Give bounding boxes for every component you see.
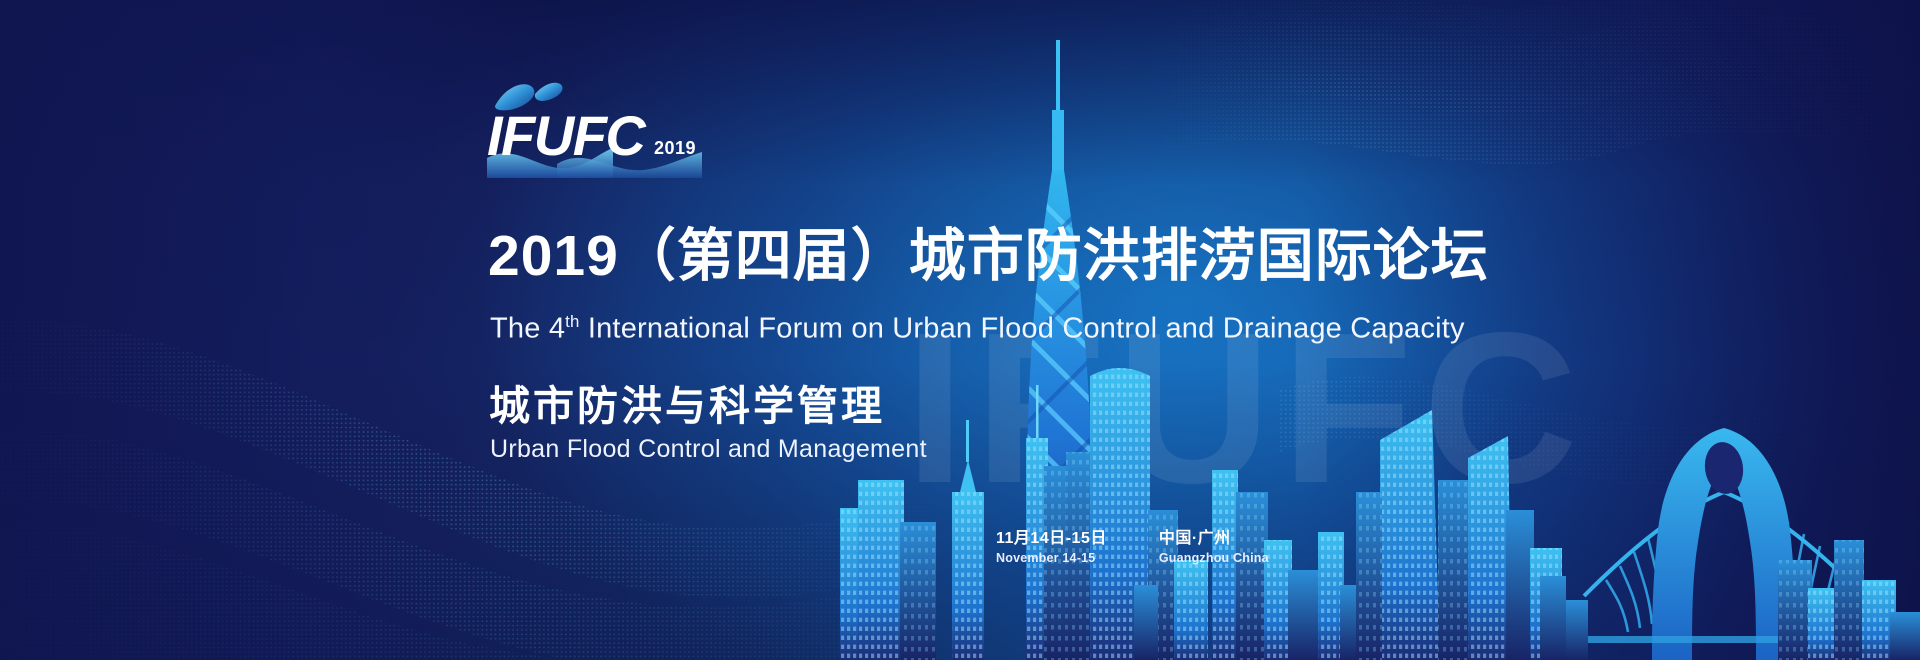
- theme-english: Urban Flood Control and Management: [490, 435, 927, 464]
- headline-title: 2019（第四届）城市防洪排涝国际论坛: [488, 228, 1489, 285]
- conference-banner: IFUFC: [0, 0, 1920, 660]
- ifufc-logo[interactable]: IFUFC 2019: [487, 78, 702, 178]
- skyline-mid-cluster: [1212, 470, 1370, 660]
- headline-subtitle: The 4th International Forum on Urban Flo…: [490, 312, 1465, 346]
- event-date-cn: 11月14日-15日: [996, 524, 1107, 548]
- event-location-cn: 中国·广州: [1159, 524, 1269, 548]
- event-date-en: November 14-15: [996, 551, 1107, 565]
- event-location-en: Guangzhou China: [1159, 551, 1269, 565]
- subtitle-ordinal-suffix: th: [565, 312, 579, 331]
- event-meta: 11月14日-15日 November 14-15 中国·广州 Guangzho…: [996, 524, 1269, 565]
- logo-wordmark: IFUFC: [487, 108, 644, 164]
- subtitle-rest: International Forum on Urban Flood Contr…: [580, 313, 1465, 345]
- event-date: 11月14日-15日 November 14-15: [996, 524, 1107, 565]
- guangzhou-skyline: [840, 40, 1920, 660]
- logo-year: 2019: [654, 138, 696, 159]
- subtitle-prefix: The 4: [490, 313, 565, 345]
- left-vignette: [0, 0, 520, 660]
- skyline-right-cluster: [1356, 410, 1562, 660]
- theme-chinese: 城市防洪与科学管理: [489, 372, 885, 432]
- event-location: 中国·广州 Guangzhou China: [1159, 524, 1269, 565]
